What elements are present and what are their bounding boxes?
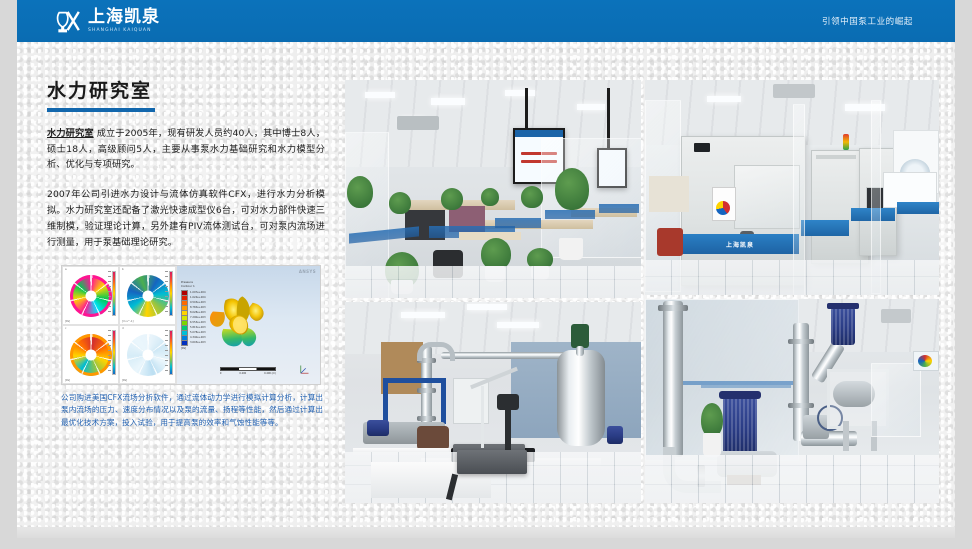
- hydraulic-lab-office-photo: [345, 80, 641, 298]
- pipe-flange: [417, 416, 436, 421]
- page-title: 水力研究室: [47, 80, 325, 103]
- pump-test-loop-photo: [645, 299, 939, 503]
- blue-support-frame: [383, 378, 388, 424]
- ceiling-light: [401, 312, 445, 318]
- large-vertical-pipe: [663, 301, 683, 457]
- cfd-contour-cell: a [Pa]: [62, 266, 119, 325]
- motor-cooling-fins: [723, 397, 757, 455]
- potted-plant: [441, 188, 463, 210]
- ceiling-vent: [773, 84, 815, 98]
- plant-pot: [559, 238, 583, 260]
- scale-bar-labels: 0 0.200 0.400 (m): [220, 372, 276, 375]
- slide-bottom-strip: [17, 527, 955, 538]
- left-text-column: 水力研究室 水力研究室 成立于2005年，现有研发人员约40人，其中博士8人，硕…: [47, 48, 325, 260]
- potted-plant: [481, 188, 499, 206]
- potted-plant: [389, 192, 411, 214]
- potted-plant: [701, 403, 723, 437]
- brand-logo-text: 上海凯泉 SHANGHAI KAIQUAN: [88, 9, 160, 34]
- machine-trim: [816, 155, 856, 159]
- contour-colorbar: [112, 271, 116, 316]
- page-header: 上海凯泉 SHANGHAI KAIQUAN 引领中国泵工业的崛起: [17, 0, 955, 42]
- contour-colorbar-ticks: [165, 271, 168, 316]
- motor-cooling-fins: [831, 307, 855, 345]
- stand-pole: [481, 386, 484, 448]
- contour-unit-label: [Pa]: [122, 379, 127, 382]
- glass-branding-strip: [897, 202, 939, 214]
- blue-support-frame: [383, 378, 445, 383]
- contour-unit-label: [Pa]: [65, 320, 70, 323]
- auxiliary-motor: [607, 426, 623, 444]
- contour-colorbar-ticks: [108, 330, 111, 375]
- impeller-contour-plot: [127, 275, 169, 317]
- contour-colorbar-ticks: [165, 330, 168, 375]
- ansys-watermark: ANSYS: [299, 269, 316, 274]
- impeller-contour-plot: [70, 275, 112, 317]
- pipe-flange: [658, 305, 688, 311]
- scale-label-mid: 0.200: [239, 372, 246, 375]
- pipe-flange: [788, 339, 814, 344]
- motor-top-cap: [827, 303, 859, 309]
- glass-branding-strip: [495, 218, 541, 228]
- contour-cell-tag: d: [122, 327, 124, 330]
- screen-header-band: [515, 130, 563, 137]
- cfd-display-graphic: [918, 355, 932, 367]
- cfd-contour-cell: d [Pa]: [119, 325, 176, 384]
- ceiling-vent: [881, 309, 911, 323]
- pump-motor: [367, 420, 389, 436]
- impeller-contour-plot: [70, 334, 112, 376]
- pipe-elbow: [417, 342, 455, 361]
- potted-plant: [555, 168, 589, 210]
- pump-casing: [417, 426, 449, 450]
- brand-name-en: SHANGHAI KAIQUAN: [88, 29, 160, 34]
- blue-support-frame: [441, 378, 446, 424]
- contour-cell-tag: c: [65, 327, 66, 330]
- scale-bar-line: [220, 367, 276, 371]
- cfd-figure-caption: 公司购进美国CFX流场分析软件，通过流体动力学进行模拟计算分析，计算出泵内流场的…: [61, 392, 323, 429]
- photo-gallery: 上海凯泉: [345, 80, 939, 503]
- pie-chart-sticker: [716, 201, 730, 215]
- impeller-hub: [142, 290, 153, 301]
- ceiling-light: [577, 104, 605, 110]
- contour-cell-tag: b: [122, 268, 124, 271]
- paragraph-intro-lead: 水力研究室: [47, 128, 94, 139]
- impeller-hub: [85, 349, 96, 360]
- tank-neck: [576, 346, 584, 356]
- background-shelf: [649, 176, 689, 212]
- glass-branding-strip: [701, 385, 791, 388]
- cfd-contour-cell: b [m s^-1]: [119, 266, 176, 325]
- ceiling-light: [431, 98, 465, 105]
- pump-motor-front: [723, 397, 757, 455]
- red-equipment: [657, 228, 683, 256]
- scale-bar: 0 0.200 0.400 (m): [220, 367, 276, 375]
- contour-unit-label: [m s^-1]: [122, 320, 134, 323]
- piv-test-rig-photo: [345, 302, 641, 503]
- pressure-legend-swatch: [181, 340, 188, 346]
- horizontal-pump-casing: [833, 381, 875, 407]
- piv-laser-unit: [457, 450, 527, 474]
- status-tower-light: [843, 134, 849, 150]
- pipe-flange: [788, 403, 814, 408]
- machine-indicator: [694, 143, 710, 152]
- glass-branding-strip: [801, 220, 849, 236]
- rapid-prototyping-equipment-photo: 上海凯泉: [645, 80, 939, 295]
- contour-cell-tag: a: [65, 268, 67, 271]
- ceiling-light: [497, 322, 539, 328]
- cfx-impeller-analysis-figure: a [Pa] b [m s^-1] c: [61, 265, 321, 385]
- impeller-contour-plot: [127, 334, 169, 376]
- impeller-hub: [85, 290, 96, 301]
- xyz-axis-icon: [298, 362, 312, 376]
- pressure-vessel: [557, 350, 605, 446]
- scale-label-max: 0.400 (m): [264, 372, 276, 375]
- ceiling-vent: [397, 116, 439, 130]
- contour-unit-label: [Pa]: [65, 379, 70, 382]
- tiled-floor: [645, 260, 939, 295]
- brand-logo: 上海凯泉 SHANGHAI KAIQUAN: [55, 5, 160, 37]
- frame-leg: [843, 421, 849, 451]
- pump-motor-rear: [831, 307, 855, 345]
- glass-brand-text: 上海凯泉: [726, 240, 754, 249]
- paragraph-intro: 水力研究室 成立于2005年，现有研发人员约40人，其中博士8人，硕士18人，高…: [47, 126, 325, 173]
- contour-colorbar-ticks: [108, 271, 111, 316]
- piv-camera: [497, 394, 519, 410]
- tiled-floor: [345, 266, 641, 298]
- contour-colorbar: [169, 271, 173, 316]
- paragraph-cfx: 2007年公司引进水力设计与流体仿真软件CFX，进行水力分析模拟。水力研究室还配…: [47, 187, 325, 250]
- ceiling-grid: [795, 299, 939, 352]
- machine-window: [734, 165, 800, 229]
- title-underline-rule: [47, 108, 155, 112]
- potted-plant: [521, 186, 543, 208]
- ceiling-light: [365, 92, 395, 98]
- plant-pot: [703, 433, 721, 457]
- ceiling-light: [467, 304, 507, 310]
- wall-monitor: [913, 351, 939, 371]
- cfd-contour-grid: a [Pa] b [m s^-1] c: [62, 266, 176, 384]
- potted-plant: [347, 176, 373, 208]
- glass-branding-strip: [599, 204, 639, 213]
- tank-valve-actuator: [571, 324, 589, 348]
- impeller-3d-geometry: [196, 280, 284, 370]
- glass-cabinet: [871, 363, 921, 437]
- motor-top-cap: [719, 391, 761, 399]
- header-slogan: 引领中国泵工业的崛起: [822, 0, 913, 42]
- tiled-floor: [645, 455, 939, 503]
- glass-branding-strip: [545, 210, 595, 219]
- glass-kaiquan-band: 上海凯泉: [681, 234, 799, 254]
- ceiling-light: [505, 90, 535, 96]
- contour-colorbar: [169, 330, 173, 375]
- ceiling-light: [707, 96, 741, 102]
- pipe-flange: [417, 388, 436, 393]
- brand-name-cn: 上海凯泉: [88, 9, 160, 26]
- impeller-3d-render: ANSYS Pressure Contour 1 1.097e+0041.024…: [176, 266, 320, 384]
- scale-label-min: 0: [220, 372, 222, 375]
- kaiquan-kx-mark-icon: [55, 7, 83, 35]
- impeller-hub: [142, 349, 153, 360]
- contour-colorbar: [112, 330, 116, 375]
- cfd-contour-cell: c [Pa]: [62, 325, 119, 384]
- slide-canvas: 上海凯泉 SHANGHAI KAIQUAN 引领中国泵工业的崛起 水力研究室 水…: [17, 0, 955, 538]
